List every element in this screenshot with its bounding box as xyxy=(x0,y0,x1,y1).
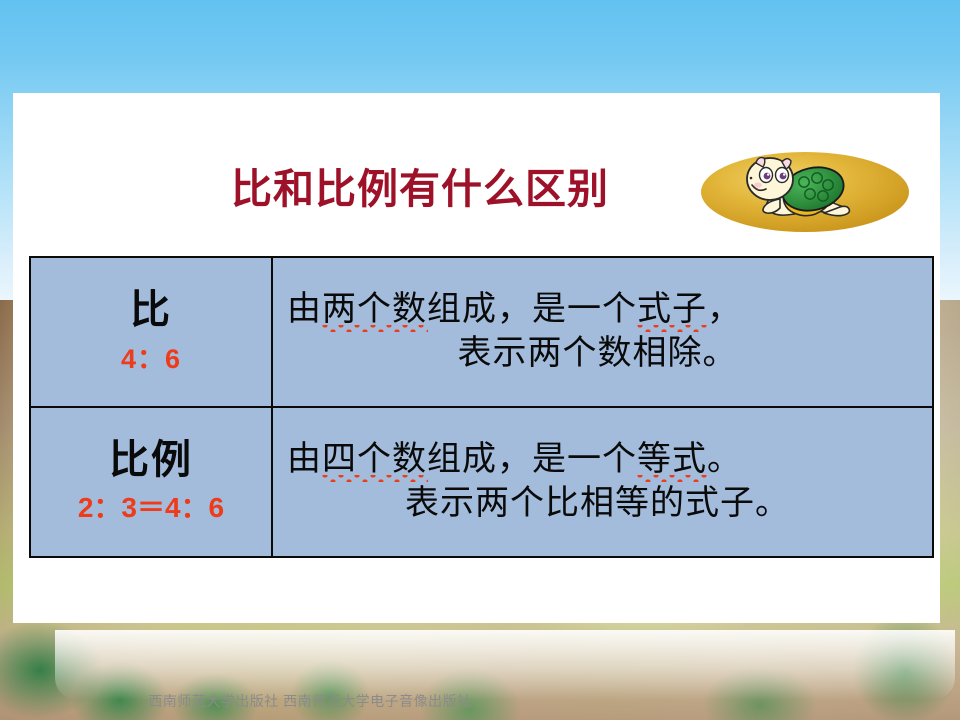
desc-wavy-1: 四个数 xyxy=(322,438,427,482)
table-row: 比 4：6 由两个数组成，是一个式子， 表示两个数相除。 xyxy=(30,257,933,407)
term-cell-ratio: 比 4：6 xyxy=(30,257,272,407)
desc-seg-c: 。 xyxy=(707,441,742,478)
desc-seg-c: ， xyxy=(707,291,742,328)
turtle-mascot-badge xyxy=(700,151,910,233)
mist-overlay xyxy=(55,630,955,700)
desc-wavy-1: 两个数 xyxy=(322,288,427,332)
page-title: 比和比例有什么区别 xyxy=(120,168,720,211)
term-label: 比例 xyxy=(31,438,271,483)
term-cell-proportion: 比例 2：3＝4：6 xyxy=(30,407,272,557)
term-expression: 4：6 xyxy=(31,337,271,376)
desc-seg-a: 由 xyxy=(287,441,322,478)
term-label: 比 xyxy=(31,288,271,333)
description-line-2: 表示两个数相除。 xyxy=(273,332,932,376)
publisher-credit: 西南师范大学出版社 西南师范大学电子音像出版社 xyxy=(0,691,620,711)
desc-wavy-2: 式子 xyxy=(637,288,707,332)
table-row: 比例 2：3＝4：6 由四个数组成，是一个等式。 表示两个比相等的式子。 xyxy=(30,407,933,557)
description-cell-proportion: 由四个数组成，是一个等式。 表示两个比相等的式子。 xyxy=(272,407,933,557)
desc-seg-b: 组成，是一个 xyxy=(427,441,637,478)
description-line-1: 由四个数组成，是一个等式。 xyxy=(273,438,932,482)
comparison-table: 比 4：6 由两个数组成，是一个式子， 表示两个数相除。 比例 2：3＝4：6 … xyxy=(29,256,934,558)
desc-seg-b: 组成，是一个 xyxy=(427,291,637,328)
description-line-2: 表示两个比相等的式子。 xyxy=(273,482,932,526)
description-cell-ratio: 由两个数组成，是一个式子， 表示两个数相除。 xyxy=(272,257,933,407)
term-expression: 2：3＝4：6 xyxy=(31,486,271,526)
desc-wavy-2: 等式 xyxy=(637,438,707,482)
description-line-1: 由两个数组成，是一个式子， xyxy=(273,288,932,332)
desc-seg-a: 由 xyxy=(287,291,322,328)
slide-root: 比和比例有什么区别 xyxy=(0,0,960,720)
